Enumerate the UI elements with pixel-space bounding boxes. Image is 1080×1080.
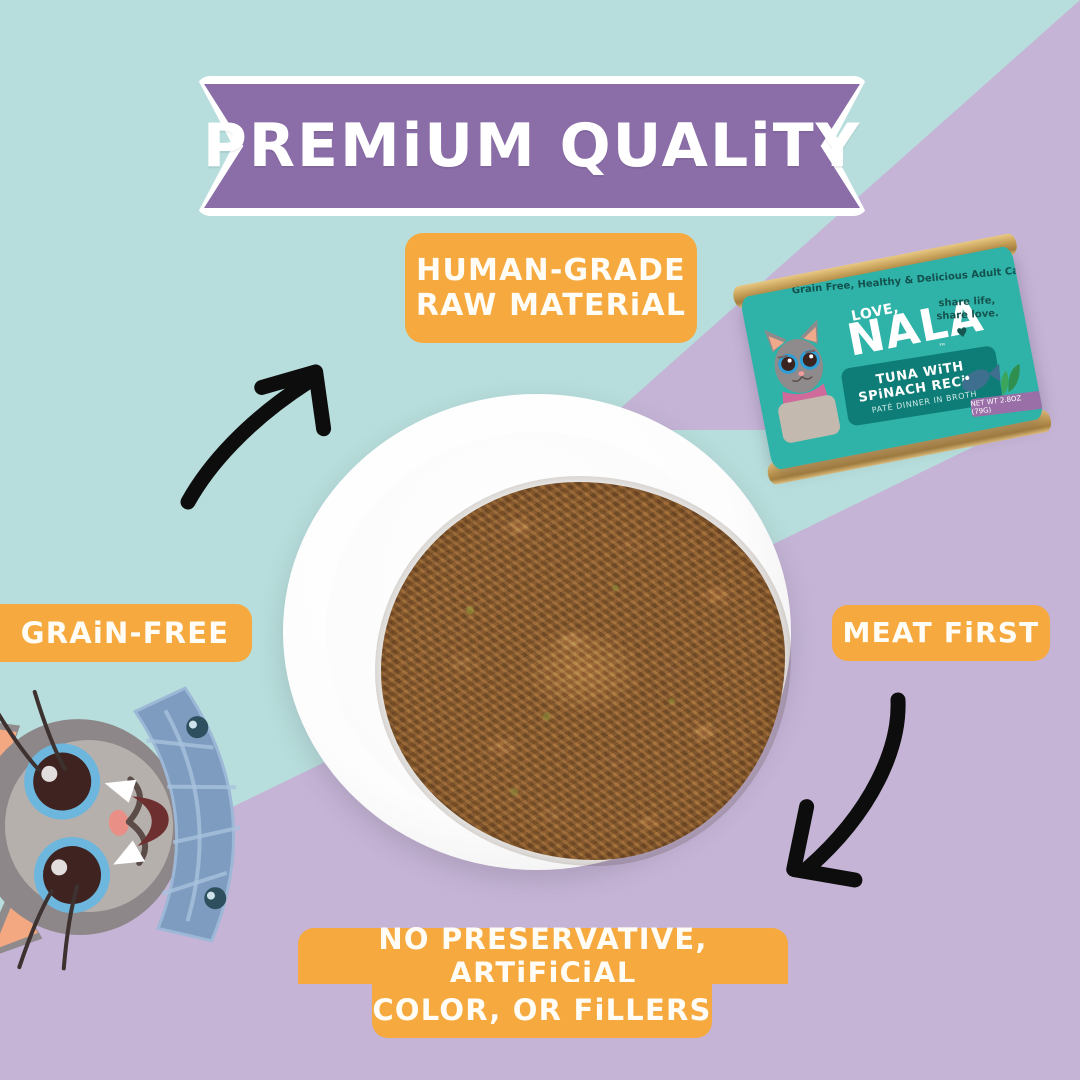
- badge-meat-first: MEAT FiRST: [832, 605, 1050, 661]
- badge-human-grade: HUMAN-GRADE RAW MATERiAL: [405, 233, 697, 343]
- infographic-canvas: PREMiUM QUALiTY Grain Free, Healthy & De…: [0, 0, 1080, 1080]
- can-slogan: share life, share love.: [935, 295, 999, 323]
- badge-human-grade-line1: HUMAN-GRADE: [416, 253, 686, 288]
- plate-inner-well: [326, 432, 748, 832]
- badge-no-preservative-line1: NO PRESERVATIVE, ARTiFiCiAL: [298, 928, 788, 984]
- corner-cat-illustration-icon: [0, 666, 253, 986]
- curved-arrow-up-right-icon: [160, 326, 360, 526]
- badge-no-preservative-line2: COLOR, OR FiLLERS: [372, 982, 712, 1038]
- badge-grain-free: GRAiN-FREE: [0, 604, 252, 662]
- can-cat-illustration-icon: [756, 309, 845, 447]
- premium-quality-banner: PREMiUM QUALiTY: [196, 76, 868, 216]
- can-trademark: ™: [938, 341, 948, 351]
- food-edge-shadow: [375, 476, 791, 866]
- banner-title: PREMiUM QUALiTY: [196, 76, 868, 216]
- badge-human-grade-line2: RAW MATERiAL: [416, 288, 686, 323]
- curved-arrow-down-left-icon: [760, 672, 960, 902]
- can-slogan-line2: share love.: [936, 308, 999, 324]
- cat-food-pate: [381, 482, 785, 860]
